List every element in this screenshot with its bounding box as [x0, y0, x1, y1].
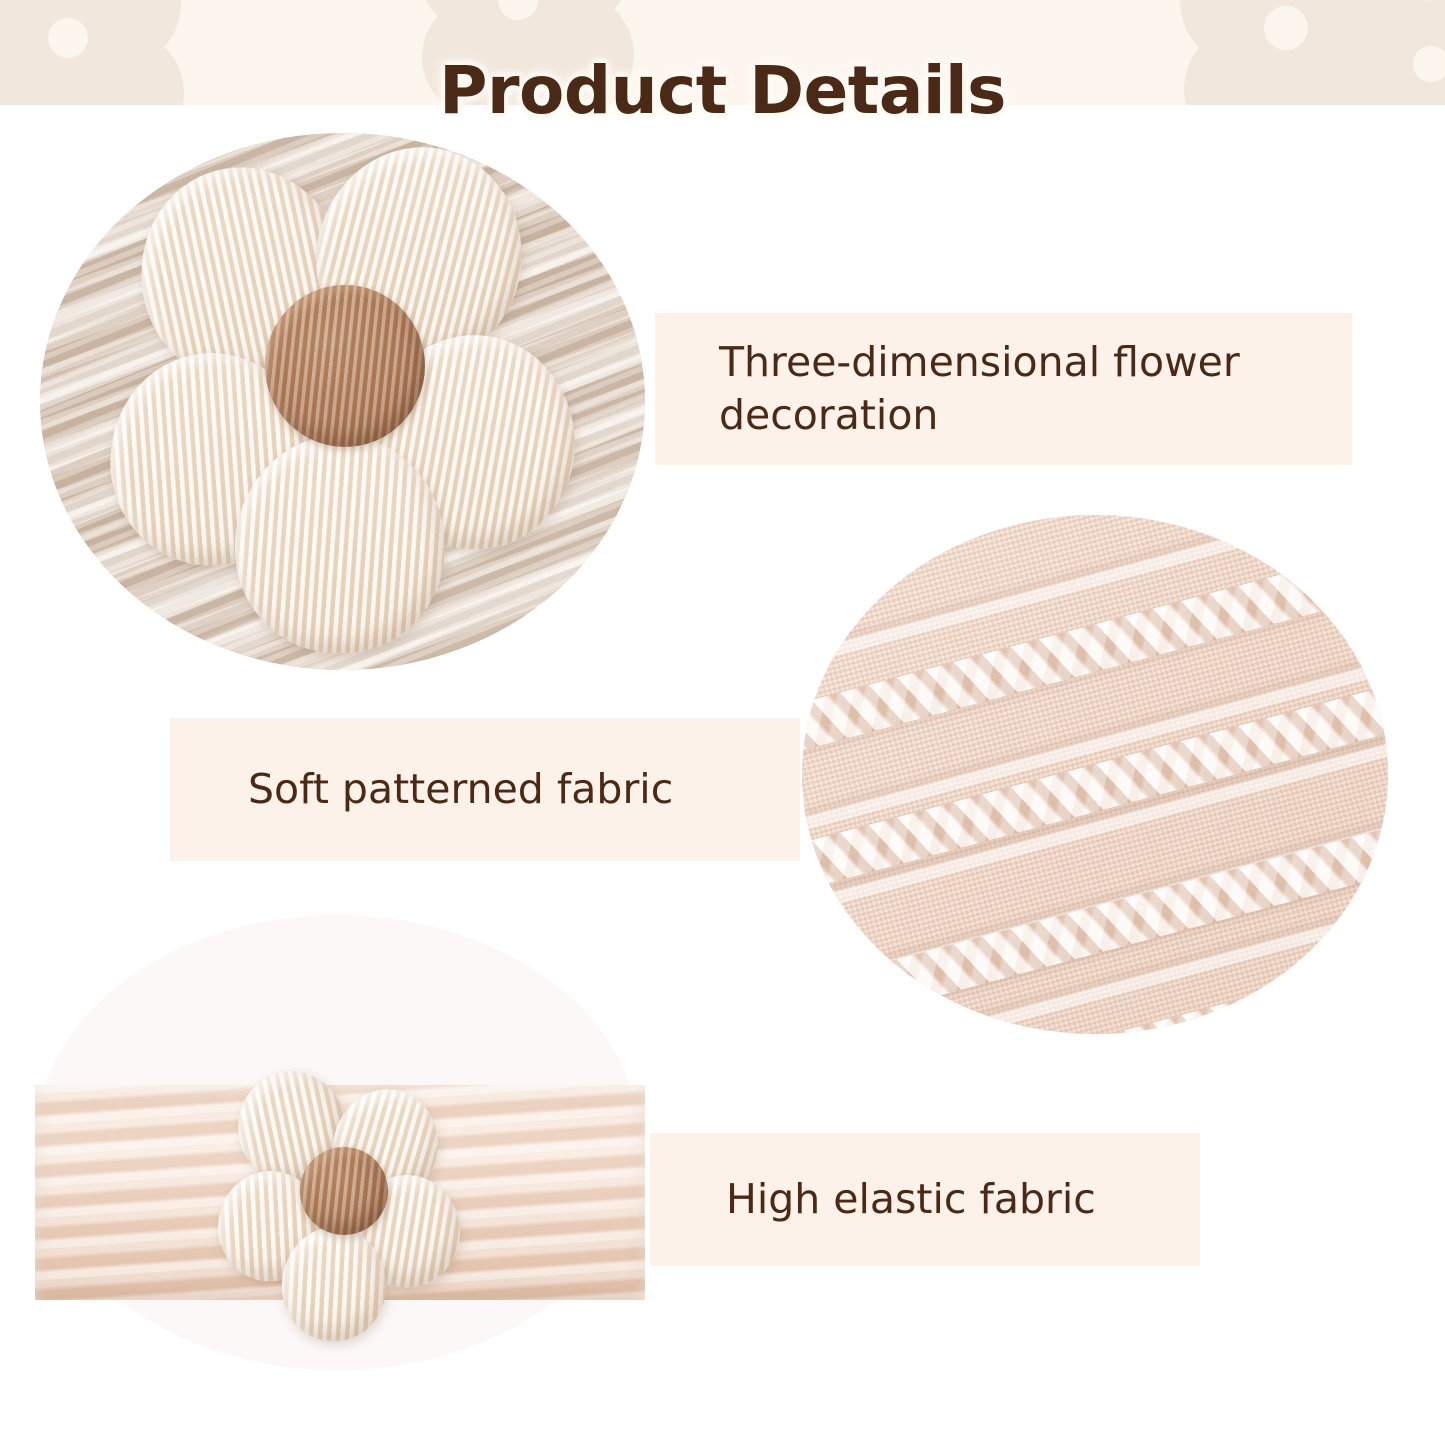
feature-caption-fabric: Soft patterned fabric [248, 763, 673, 816]
feature-caption-flower: Three-dimensional flower decoration [719, 336, 1240, 443]
fabric-flower-graphic [85, 135, 605, 665]
flower-closeup-photo [40, 133, 645, 670]
headband-flower-graphic [210, 1055, 475, 1325]
feature-caption-elastic: High elastic fabric [726, 1173, 1096, 1226]
page-title: Product Details [0, 52, 1445, 129]
product-details-page: Product Details Three-dimensional flower… [0, 0, 1445, 1445]
feature-banner-elastic: High elastic fabric [650, 1133, 1200, 1266]
feature-banner-fabric: Soft patterned fabric [170, 718, 800, 861]
feature-banner-flower: Three-dimensional flower decoration [655, 313, 1352, 465]
knit-fabric-closeup-photo [795, 508, 1395, 1041]
